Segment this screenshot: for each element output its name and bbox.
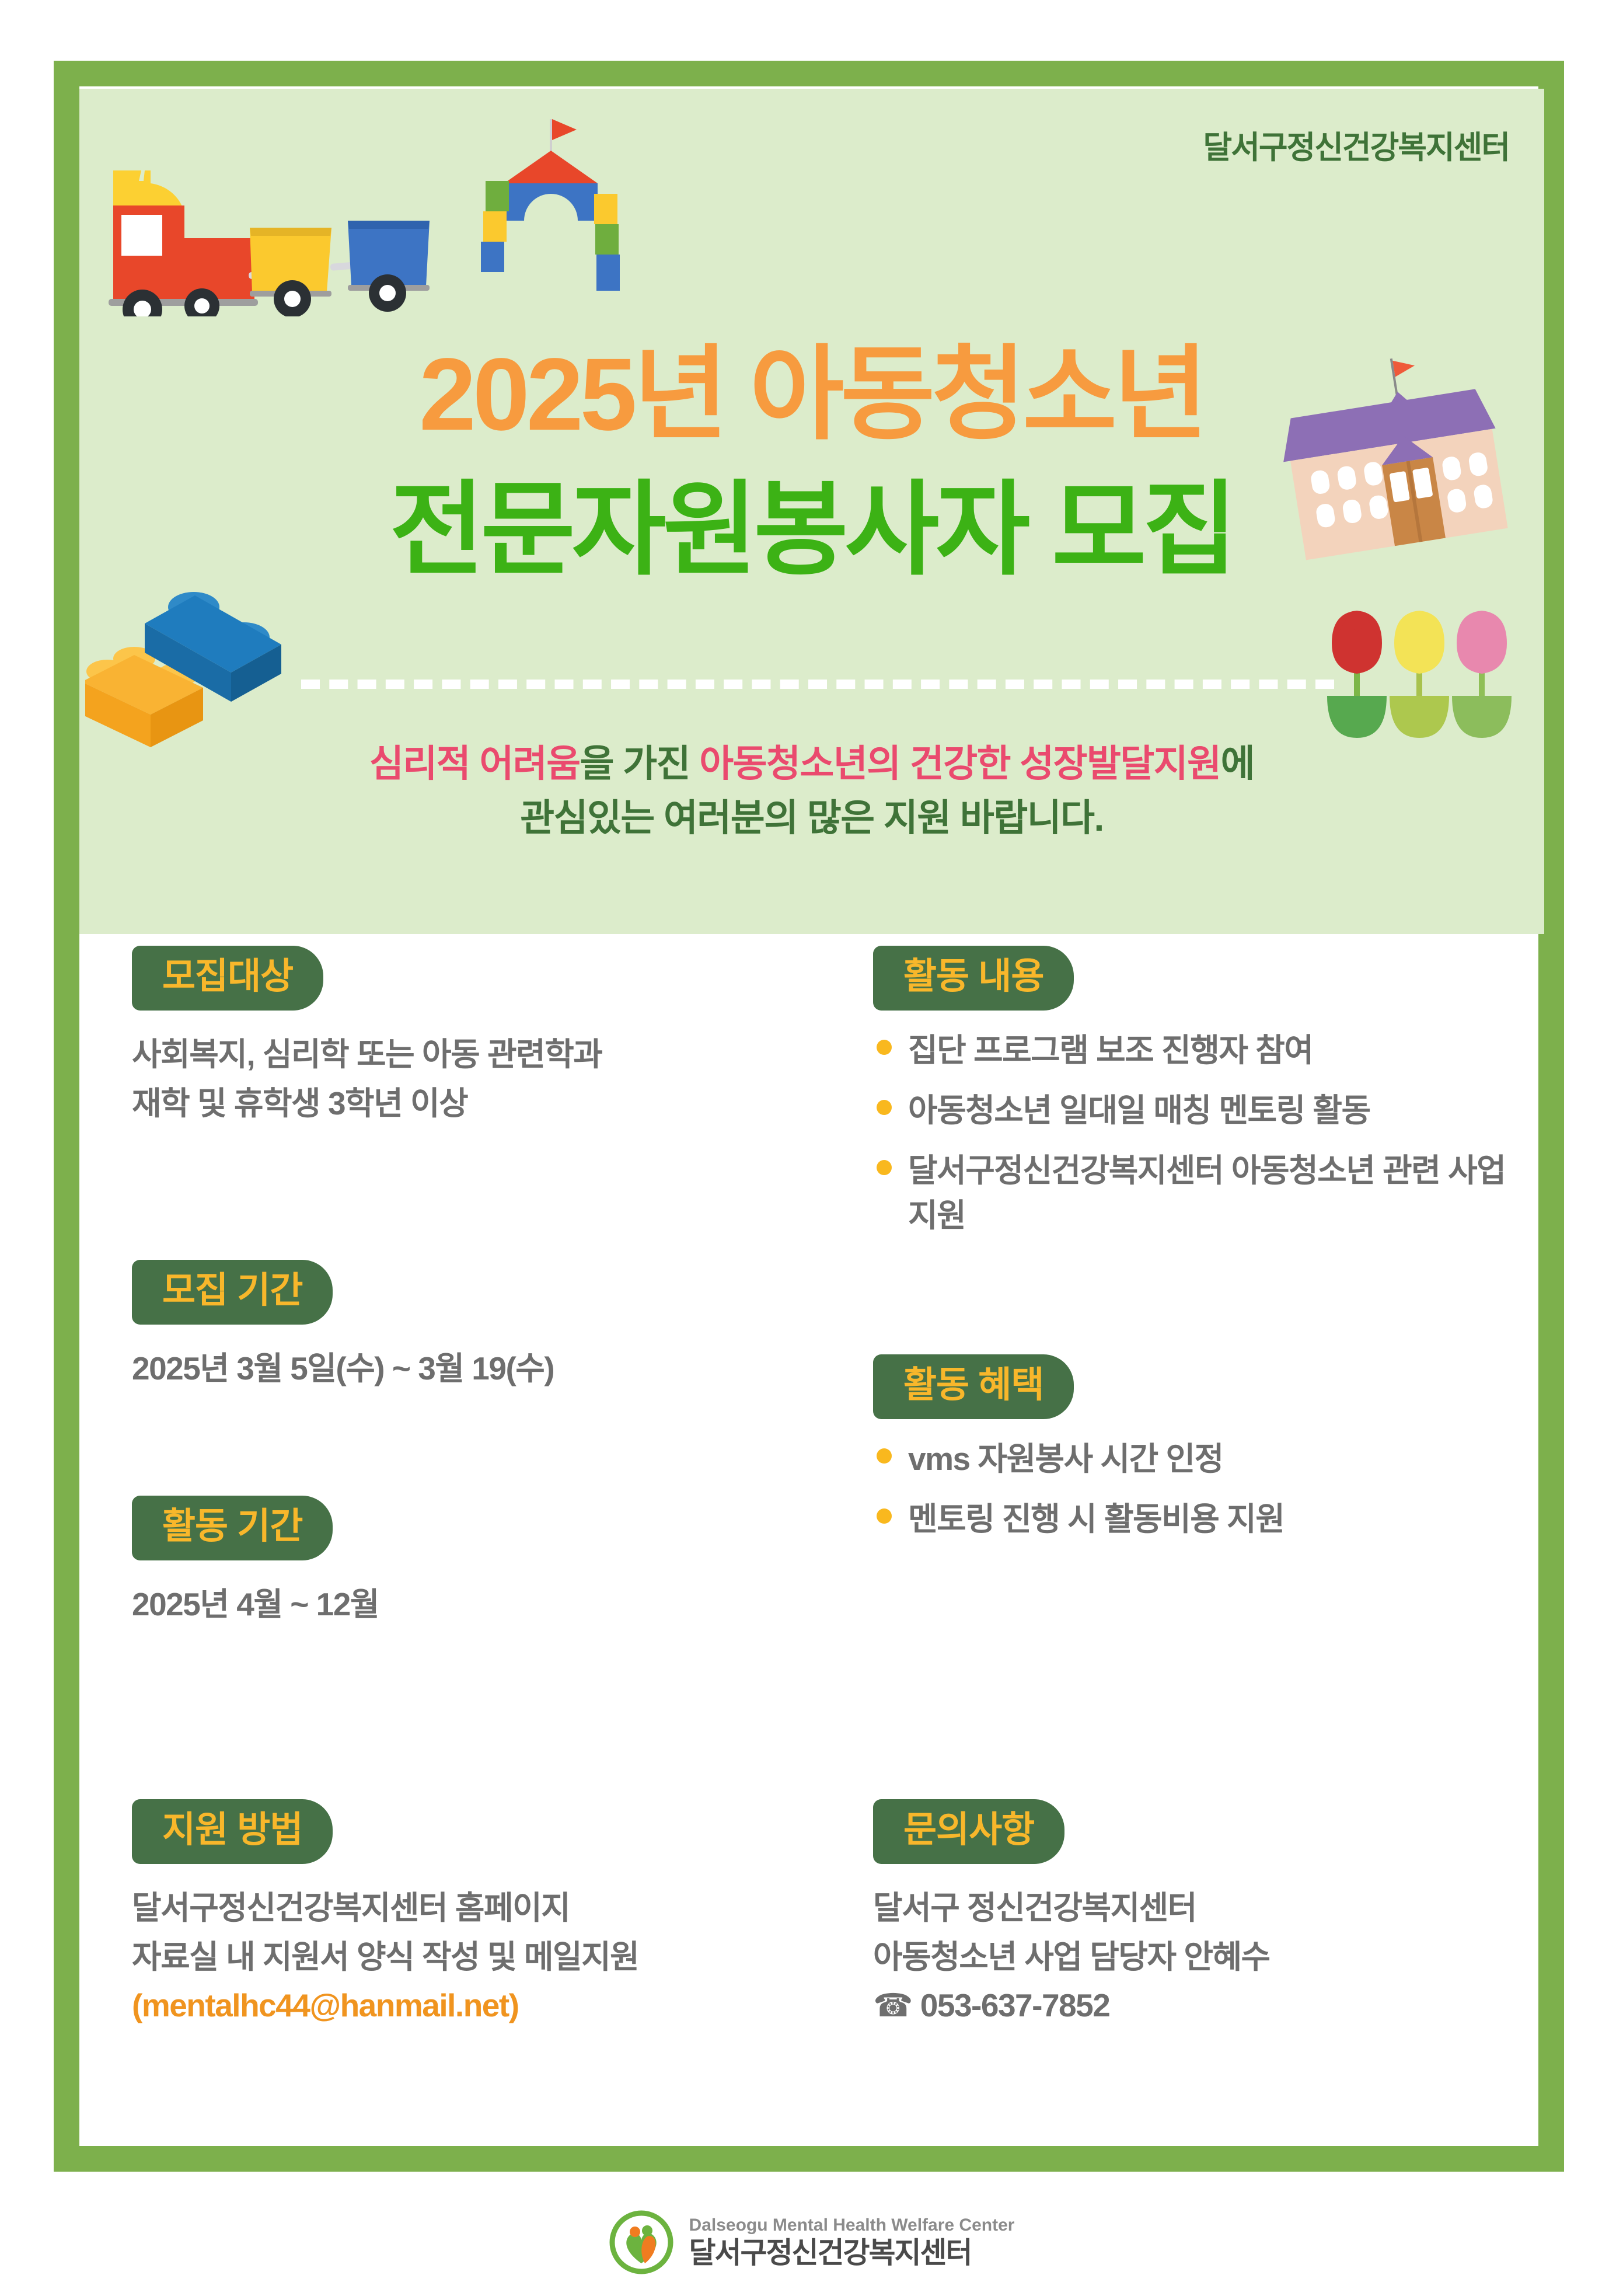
activity-period-body: 2025년 4월 ~ 12월 [132, 1580, 379, 1629]
bullet-dot-icon [877, 1448, 892, 1464]
activity-content-list: 집단 프로그램 보조 진행자 참여 아동청소년 일대일 매칭 멘토링 활동 달서… [873, 1028, 1538, 1238]
recruit-target-body: 사회복지, 심리학 또는 아동 관련학과 재학 및 휴학생 3학년 이상 [132, 1030, 602, 1128]
badge-apply-method: 지원 방법 [132, 1799, 333, 1864]
recruit-period-body: 2025년 3월 5일(수) ~ 3월 19(수) [132, 1344, 554, 1393]
poster-subtitle: 심리적 어려움을 가진 아동청소년의 건강한 성장발달지원에 관심있는 여러분의… [79, 737, 1544, 845]
section-activity-period: 활동 기간 2025년 4월 ~ 12월 [132, 1496, 379, 1629]
bullet-dot-icon [877, 1100, 892, 1115]
subtitle-line-2: 관심있는 여러분의 많은 지원 바랍니다. [79, 791, 1544, 845]
inquiry-line-1: 달서구 정신건강복지센터 [873, 1884, 1270, 1933]
bullet-dot-icon [877, 1160, 892, 1175]
subtitle-plain-1: 을 가진 [580, 743, 700, 785]
recruit-period-line-1: 2025년 3월 5일(수) ~ 3월 19(수) [132, 1344, 554, 1393]
list-item: 집단 프로그램 보조 진행자 참여 [873, 1028, 1538, 1073]
list-item: 아동청소년 일대일 매칭 멘토링 활동 [873, 1088, 1538, 1133]
content-area: 모집대상 사회복지, 심리학 또는 아동 관련학과 재학 및 휴학생 3학년 이… [79, 946, 1544, 2102]
badge-inquiry: 문의사항 [873, 1799, 1064, 1864]
recruit-target-line-1: 사회복지, 심리학 또는 아동 관련학과 [132, 1030, 602, 1079]
section-recruit-period: 모집 기간 2025년 3월 5일(수) ~ 3월 19(수) [132, 1260, 554, 1393]
subtitle-highlight-2: 아동청소년의 건강한 성장발달지원 [699, 743, 1220, 785]
apply-method-line-1: 달서구정신건강복지센터 홈페이지 [132, 1884, 638, 1933]
hero-panel: 달서구정신건강복지센터 2025년 아동청소년 전문자원봉사자 모집 심리적 어… [79, 89, 1544, 934]
title-line-2: 전문자원봉사자 모집 [79, 462, 1544, 598]
activity-period-line-1: 2025년 4월 ~ 12월 [132, 1580, 379, 1629]
section-recruit-target: 모집대상 사회복지, 심리학 또는 아동 관련학과 재학 및 휴학생 3학년 이… [132, 946, 602, 1128]
badge-activity-benefit: 활동 혜택 [873, 1354, 1074, 1419]
bullet-dot-icon [877, 1508, 892, 1524]
list-item-label: 달서구정신건강복지센터 아동청소년 관련 사업 지원 [908, 1152, 1505, 1234]
apply-method-email[interactable]: (mentalhc44@hanmail.net) [132, 1981, 638, 2030]
badge-recruit-period: 모집 기간 [132, 1260, 333, 1325]
apply-method-body: 달서구정신건강복지센터 홈페이지 자료실 내 지원서 양식 작성 및 메일지원 … [132, 1884, 638, 2030]
badge-activity-period: 활동 기간 [132, 1496, 333, 1560]
list-item-label: vms 자원봉사 시간 인정 [908, 1441, 1223, 1477]
org-header-name: 달서구정신건강복지센터 [1203, 121, 1509, 168]
tulip-flowers-illustration [1322, 597, 1515, 760]
badge-activity-content: 활동 내용 [873, 946, 1074, 1011]
inquiry-phone[interactable]: ☎ 053-637-7852 [873, 1981, 1270, 2030]
inquiry-body: 달서구 정신건강복지센터 아동청소년 사업 담당자 안혜수 ☎ 053-637-… [873, 1884, 1270, 2030]
title-line-1: 2025년 아동청소년 [79, 327, 1544, 462]
subtitle-line-1: 심리적 어려움을 가진 아동청소년의 건강한 성장발달지원에 [79, 737, 1544, 791]
list-item: vms 자원봉사 시간 인정 [873, 1437, 1284, 1482]
section-activity-content: 활동 내용 집단 프로그램 보조 진행자 참여 아동청소년 일대일 매칭 멘토링… [873, 946, 1538, 1253]
footer-logo-english: Dalseogu Mental Health Welfare Center [689, 2215, 1015, 2236]
section-apply-method: 지원 방법 달서구정신건강복지센터 홈페이지 자료실 내 지원서 양식 작성 및… [132, 1799, 638, 2030]
list-item: 달서구정신건강복지센터 아동청소년 관련 사업 지원 [873, 1148, 1538, 1238]
footer-logo: Dalseogu Mental Health Welfare Center 달서… [0, 2193, 1623, 2292]
list-item-label: 멘토링 진행 시 활동비용 지원 [908, 1501, 1284, 1537]
list-item-label: 집단 프로그램 보조 진행자 참여 [908, 1032, 1313, 1068]
footer-logo-text: Dalseogu Mental Health Welfare Center 달서… [689, 2215, 1015, 2269]
recruit-target-line-2: 재학 및 휴학생 3학년 이상 [132, 1079, 602, 1128]
section-inquiry: 문의사항 달서구 정신건강복지센터 아동청소년 사업 담당자 안혜수 ☎ 053… [873, 1799, 1270, 2030]
subtitle-plain-2: 에 [1221, 743, 1254, 785]
inquiry-line-2: 아동청소년 사업 담당자 안혜수 [873, 1933, 1270, 1982]
bullet-dot-icon [877, 1040, 892, 1055]
activity-benefit-list: vms 자원봉사 시간 인정 멘토링 진행 시 활동비용 지원 [873, 1437, 1284, 1542]
subtitle-highlight-1: 심리적 어려움 [369, 743, 580, 785]
apply-method-line-2: 자료실 내 지원서 양식 작성 및 메일지원 [132, 1933, 638, 1982]
list-item-label: 아동청소년 일대일 매칭 멘토링 활동 [908, 1092, 1370, 1128]
section-activity-benefit: 활동 혜택 vms 자원봉사 시간 인정 멘토링 진행 시 활동비용 지원 [873, 1354, 1284, 1557]
block-arch-illustration [447, 106, 640, 322]
badge-recruit-target: 모집대상 [132, 946, 323, 1011]
poster-title: 2025년 아동청소년 전문자원봉사자 모집 [79, 327, 1544, 598]
center-logo-icon [609, 2210, 674, 2275]
list-item: 멘토링 진행 시 활동비용 지원 [873, 1497, 1284, 1542]
footer-logo-korean: 달서구정신건강복지센터 [689, 2237, 1015, 2269]
lego-bricks-illustration [85, 573, 342, 760]
dashed-divider [301, 680, 1334, 689]
